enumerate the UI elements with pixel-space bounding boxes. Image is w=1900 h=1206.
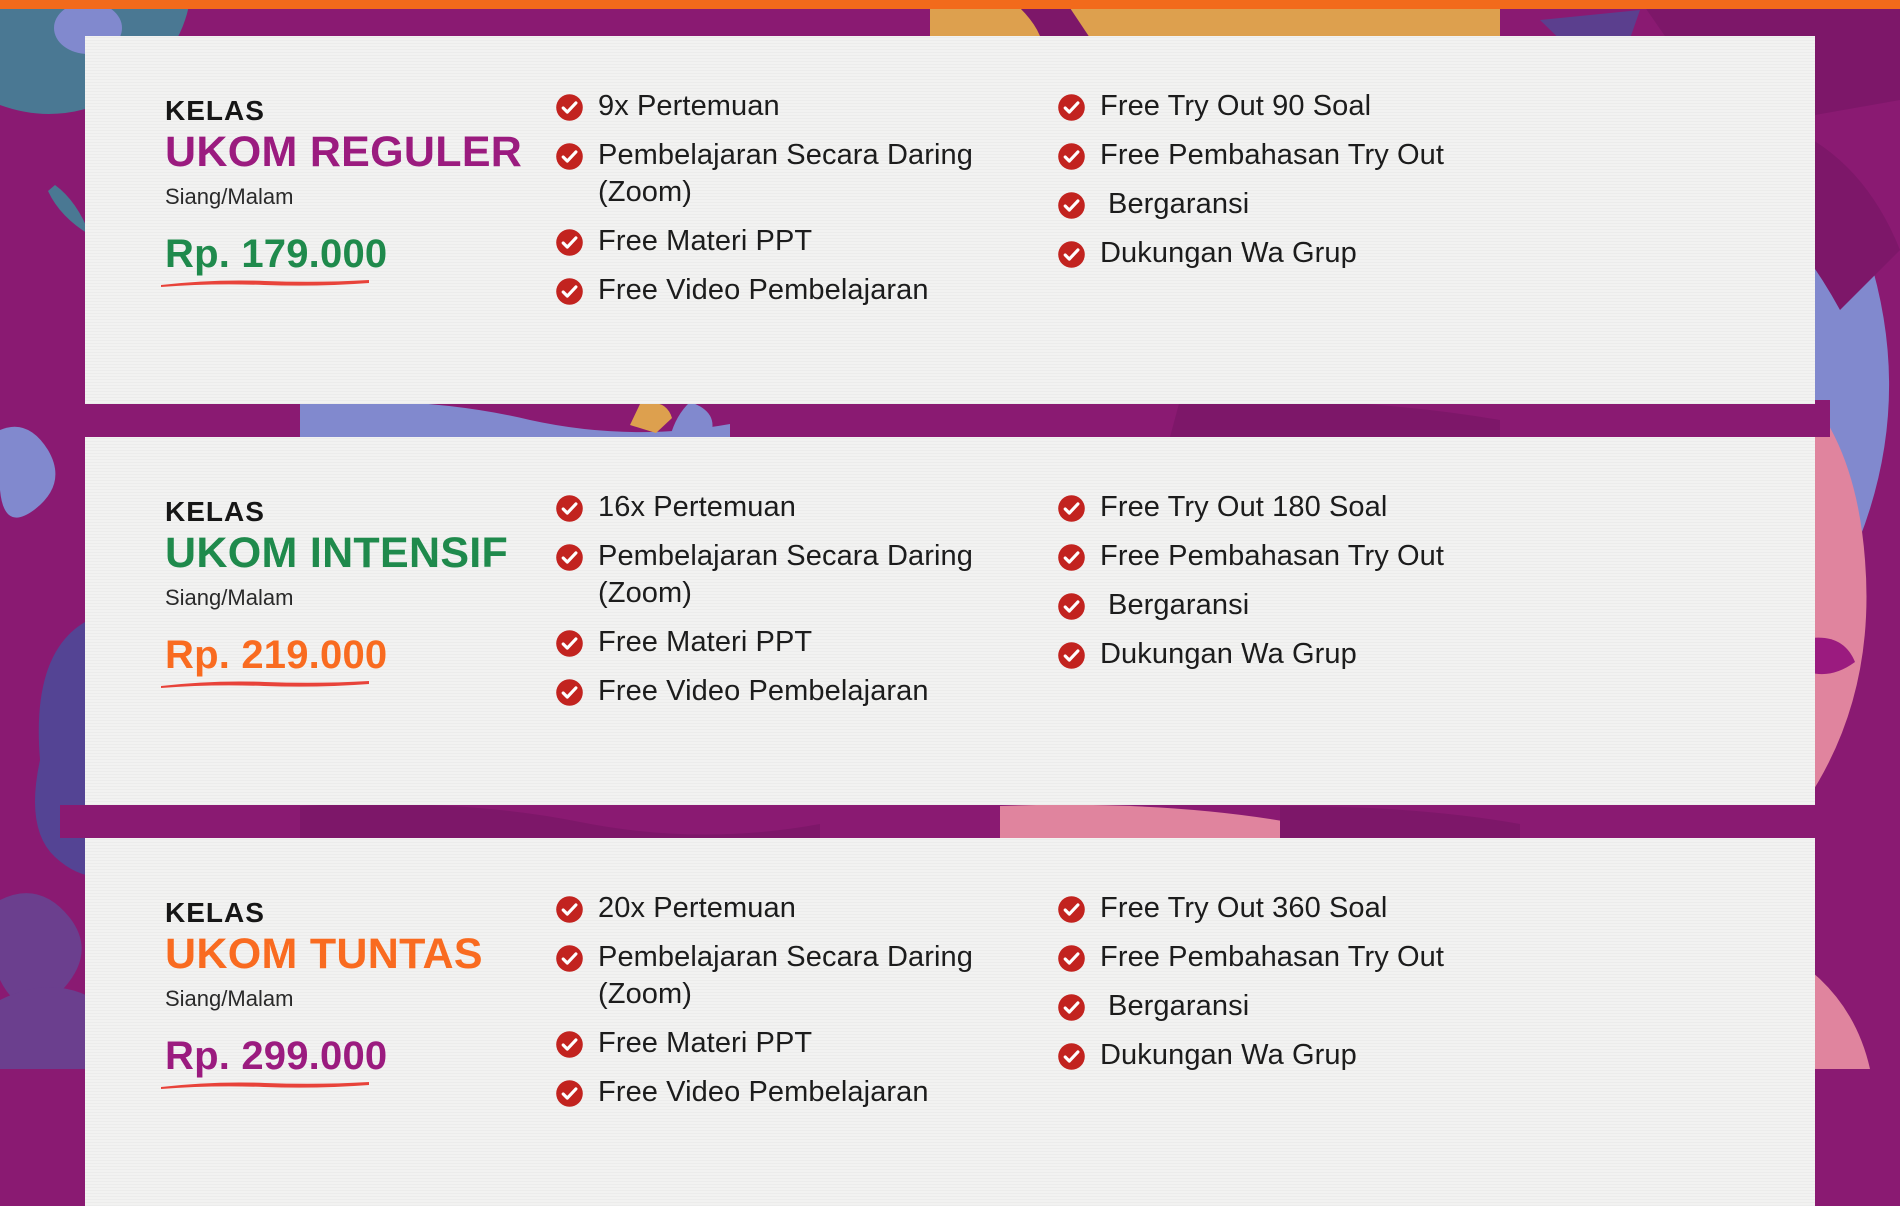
feature-item: 16x Pertemuan (555, 489, 1035, 526)
check-circle-icon (1057, 592, 1086, 621)
price-value: Rp. 179.000 (165, 234, 387, 274)
price-value: Rp. 219.000 (165, 635, 387, 675)
price-underline-brush (159, 1079, 371, 1090)
features-column-right: Free Try Out 360 Soal Free Pembahasan Tr… (1035, 890, 1595, 1124)
feature-item: Free Try Out 180 Soal (1057, 489, 1595, 526)
feature-item: 9x Pertemuan (555, 88, 1035, 125)
price-wrapper: Rp. 179.000 (165, 234, 387, 274)
check-circle-icon (1057, 494, 1086, 523)
check-circle-icon (555, 895, 584, 924)
feature-label: Free Try Out 360 Soal (1100, 890, 1387, 927)
features-column-left: 16x Pertemuan Pembelajaran Secara Daring… (555, 489, 1035, 723)
check-circle-icon (555, 228, 584, 257)
feature-item: Dukungan Wa Grup (1057, 235, 1595, 272)
feature-item: Pembelajaran Secara Daring (Zoom) (555, 538, 1035, 612)
features-column-left: 9x Pertemuan Pembelajaran Secara Daring … (555, 88, 1035, 322)
check-circle-icon (555, 277, 584, 306)
feature-label: Free Try Out 180 Soal (1100, 489, 1387, 526)
price-wrapper: Rp. 219.000 (165, 635, 387, 675)
card-features: 16x Pertemuan Pembelajaran Secara Daring… (555, 437, 1815, 723)
card-features: 9x Pertemuan Pembelajaran Secara Daring … (555, 36, 1815, 322)
feature-label: Pembelajaran Secara Daring (Zoom) (598, 137, 1035, 211)
card-info-block: KELAS UKOM REGULER Siang/Malam Rp. 179.0… (85, 36, 555, 274)
feature-label: Free Try Out 90 Soal (1100, 88, 1371, 125)
card-features: 20x Pertemuan Pembelajaran Secara Daring… (555, 838, 1815, 1124)
feature-item: Free Materi PPT (555, 1025, 1035, 1062)
check-circle-icon (1057, 543, 1086, 572)
check-circle-icon (555, 494, 584, 523)
schedule-label: Siang/Malam (165, 184, 555, 210)
kelas-label: KELAS (165, 898, 555, 929)
check-circle-icon (1057, 895, 1086, 924)
check-circle-icon (555, 1079, 584, 1108)
feature-label: Free Video Pembelajaran (598, 272, 929, 309)
feature-label: Free Pembahasan Try Out (1100, 939, 1444, 976)
check-circle-icon (1057, 641, 1086, 670)
check-circle-icon (1057, 142, 1086, 171)
check-circle-icon (1057, 944, 1086, 973)
feature-label: Free Materi PPT (598, 1025, 812, 1062)
feature-item: Pembelajaran Secara Daring (Zoom) (555, 939, 1035, 1013)
feature-item: Free Pembahasan Try Out (1057, 137, 1595, 174)
feature-label: Dukungan Wa Grup (1100, 235, 1357, 272)
feature-label: 20x Pertemuan (598, 890, 796, 927)
kelas-label: KELAS (165, 497, 555, 528)
feature-item: Free Try Out 360 Soal (1057, 890, 1595, 927)
check-circle-icon (555, 629, 584, 658)
feature-label: Pembelajaran Secara Daring (Zoom) (598, 939, 1035, 1013)
pricing-cards-container: KELAS UKOM REGULER Siang/Malam Rp. 179.0… (0, 0, 1900, 1069)
top-accent-bar (0, 0, 1900, 9)
feature-item: Free Video Pembelajaran (555, 272, 1035, 309)
schedule-label: Siang/Malam (165, 986, 555, 1012)
check-circle-icon (1057, 993, 1086, 1022)
class-name: UKOM INTENSIF (165, 529, 555, 577)
feature-item: Bergaransi (1057, 186, 1595, 223)
check-circle-icon (1057, 93, 1086, 122)
feature-label: Free Video Pembelajaran (598, 1074, 929, 1111)
check-circle-icon (555, 1030, 584, 1059)
features-column-left: 20x Pertemuan Pembelajaran Secara Daring… (555, 890, 1035, 1124)
feature-item: 20x Pertemuan (555, 890, 1035, 927)
feature-item: Dukungan Wa Grup (1057, 636, 1595, 673)
price-wrapper: Rp. 299.000 (165, 1036, 387, 1076)
feature-item: Free Pembahasan Try Out (1057, 939, 1595, 976)
feature-label: Bergaransi (1100, 988, 1249, 1025)
features-column-right: Free Try Out 90 Soal Free Pembahasan Try… (1035, 88, 1595, 322)
check-circle-icon (555, 678, 584, 707)
feature-label: 16x Pertemuan (598, 489, 796, 526)
pricing-card-ukom-intensif[interactable]: KELAS UKOM INTENSIF Siang/Malam Rp. 219.… (85, 437, 1815, 805)
class-name: UKOM TUNTAS (165, 930, 555, 978)
price-underline-brush (159, 277, 371, 288)
kelas-label: KELAS (165, 96, 555, 127)
check-circle-icon (555, 543, 584, 572)
feature-label: Bergaransi (1100, 587, 1249, 624)
check-circle-icon (1057, 191, 1086, 220)
feature-item: Free Try Out 90 Soal (1057, 88, 1595, 125)
feature-label: Pembelajaran Secara Daring (Zoom) (598, 538, 1035, 612)
feature-item: Pembelajaran Secara Daring (Zoom) (555, 137, 1035, 211)
card-info-block: KELAS UKOM TUNTAS Siang/Malam Rp. 299.00… (85, 838, 555, 1076)
feature-item: Free Materi PPT (555, 624, 1035, 661)
check-circle-icon (1057, 1042, 1086, 1071)
card-info-block: KELAS UKOM INTENSIF Siang/Malam Rp. 219.… (85, 437, 555, 675)
feature-label: Free Pembahasan Try Out (1100, 538, 1444, 575)
feature-label: Bergaransi (1100, 186, 1249, 223)
feature-label: Free Materi PPT (598, 624, 812, 661)
price-underline-brush (159, 678, 371, 689)
schedule-label: Siang/Malam (165, 585, 555, 611)
feature-label: 9x Pertemuan (598, 88, 780, 125)
feature-label: Free Video Pembelajaran (598, 673, 929, 710)
feature-item: Bergaransi (1057, 988, 1595, 1025)
price-value: Rp. 299.000 (165, 1036, 387, 1076)
check-circle-icon (555, 142, 584, 171)
feature-item: Bergaransi (1057, 587, 1595, 624)
pricing-card-ukom-reguler[interactable]: KELAS UKOM REGULER Siang/Malam Rp. 179.0… (85, 36, 1815, 404)
pricing-card-ukom-tuntas[interactable]: KELAS UKOM TUNTAS Siang/Malam Rp. 299.00… (85, 838, 1815, 1206)
feature-item: Free Video Pembelajaran (555, 673, 1035, 710)
check-circle-icon (555, 93, 584, 122)
feature-label: Free Pembahasan Try Out (1100, 137, 1444, 174)
check-circle-icon (555, 944, 584, 973)
feature-item: Free Video Pembelajaran (555, 1074, 1035, 1111)
feature-label: Dukungan Wa Grup (1100, 636, 1357, 673)
feature-item: Free Materi PPT (555, 223, 1035, 260)
check-circle-icon (1057, 240, 1086, 269)
feature-item: Free Pembahasan Try Out (1057, 538, 1595, 575)
features-column-right: Free Try Out 180 Soal Free Pembahasan Tr… (1035, 489, 1595, 723)
feature-label: Free Materi PPT (598, 223, 812, 260)
class-name: UKOM REGULER (165, 128, 555, 176)
